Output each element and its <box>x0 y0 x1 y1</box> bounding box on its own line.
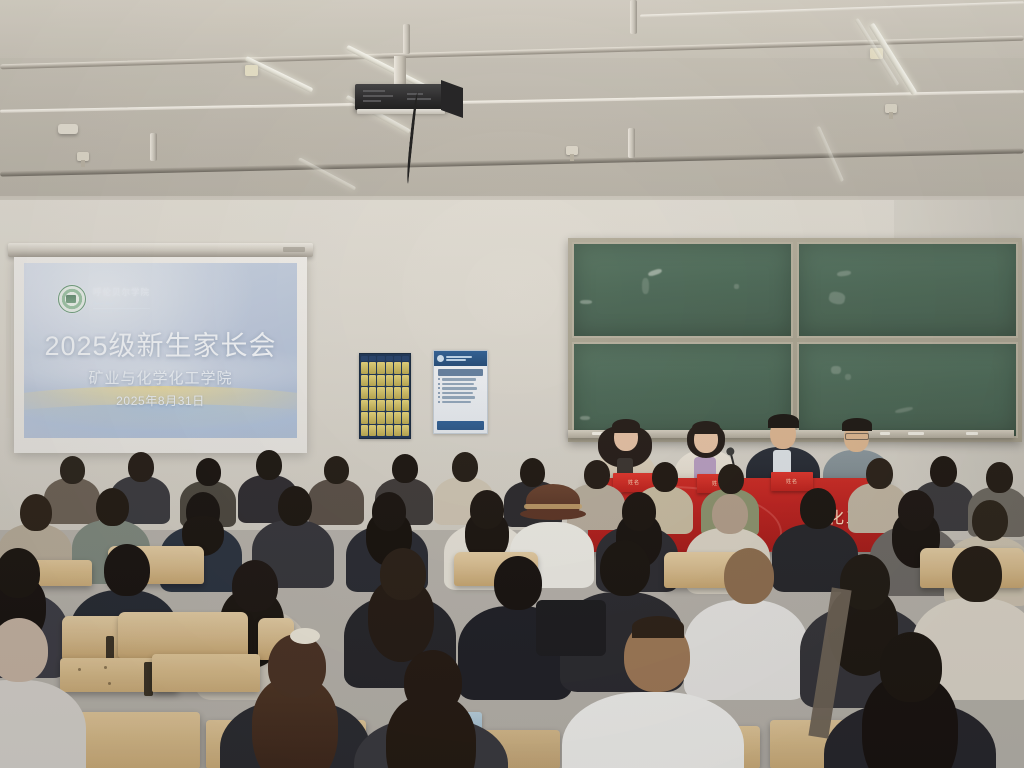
glasses-icon <box>845 433 869 440</box>
poster-logo-icon <box>437 355 444 362</box>
projector-body <box>355 84 447 110</box>
screen-roller-housing <box>8 243 313 257</box>
notice-poster-header <box>434 351 487 366</box>
slide-subtitle: 矿业与化学化工学院 <box>24 367 297 388</box>
sprinkler-head-2 <box>77 152 89 161</box>
notice-list-item <box>438 401 483 404</box>
chalkboard-panel <box>572 342 793 438</box>
poster-grid-row <box>361 387 409 399</box>
ceiling-hanger-4 <box>630 0 637 34</box>
chalkboard <box>568 238 1022 442</box>
chalk-piece <box>880 432 890 435</box>
notice-poster-footer <box>437 421 484 430</box>
poster-grid-row <box>361 400 409 412</box>
ceiling-hanger-2 <box>150 133 157 161</box>
chalkboard-panel <box>572 242 793 338</box>
slide-wave-blue <box>24 404 297 438</box>
poster-grid-row <box>361 362 409 374</box>
notice-list-item <box>438 387 483 390</box>
schedule-grid-poster <box>359 353 411 439</box>
slide-logo: 呼伦贝尔学院 ᠬᠥᠯᠥᠨ ᠪᠤᠶᠢᠷ HULUNBUIR UNIVERSITY <box>58 285 150 313</box>
lecture-hall-photo: 呼伦贝尔学院 ᠬᠥᠯᠥᠨ ᠪᠤᠶᠢᠷ HULUNBUIR UNIVERSITY … <box>0 0 1024 768</box>
screen-side-bracket <box>6 300 11 418</box>
notice-list-item <box>438 383 483 386</box>
university-seal-icon <box>58 285 86 313</box>
presentation-slide: 呼伦贝尔学院 ᠬᠥᠯᠥᠨ ᠪᠤᠶᠢᠷ HULUNBUIR UNIVERSITY … <box>24 263 297 438</box>
chalk-piece <box>966 432 978 435</box>
nameplate-3: 姓名 <box>771 472 813 491</box>
fluorescent-tube-1-end <box>245 65 258 76</box>
poster-header-text <box>446 356 472 361</box>
desk <box>152 654 260 692</box>
poster-grid-row <box>361 412 409 424</box>
smoke-detector <box>58 124 78 134</box>
notice-list-item <box>438 396 483 399</box>
chalk-piece <box>908 432 924 435</box>
poster-grid-row <box>361 375 409 387</box>
notice-list-item <box>438 392 483 395</box>
slide-title: 2025级新生家长会 <box>24 333 297 360</box>
ceiling-hanger-3 <box>628 128 635 158</box>
university-name-cn: 呼伦贝尔学院 <box>93 286 150 298</box>
notice-poster-title <box>438 369 483 376</box>
hair-tie <box>290 628 320 644</box>
slide-date: 2025年8月31日 <box>24 392 297 409</box>
notice-poster <box>433 350 488 434</box>
poster-grid-row <box>361 425 409 437</box>
sprinkler-head-3 <box>566 146 578 155</box>
chalkboard-panel <box>797 242 1018 338</box>
notice-poster-list <box>438 378 483 419</box>
chalkboard-panel <box>797 342 1018 438</box>
university-name-en: HULUNBUIR UNIVERSITY <box>93 308 150 313</box>
sprinkler-head-1 <box>885 104 897 113</box>
seat-back <box>118 612 248 658</box>
poster-grid-header <box>361 356 409 361</box>
notice-list-item <box>438 378 483 381</box>
ceiling-hanger-1 <box>403 24 410 54</box>
university-name-mn: ᠬᠥᠯᠥᠨ ᠪᠤᠶᠢᠷ <box>93 299 150 307</box>
bag <box>536 600 606 656</box>
university-name-block: 呼伦贝尔学院 ᠬᠥᠯᠥᠨ ᠪᠤᠶᠢᠷ HULUNBUIR UNIVERSITY <box>93 286 150 313</box>
projection-screen: 呼伦贝尔学院 ᠬᠥᠯᠥᠨ ᠪᠤᠶᠢᠷ HULUNBUIR UNIVERSITY … <box>14 257 307 453</box>
